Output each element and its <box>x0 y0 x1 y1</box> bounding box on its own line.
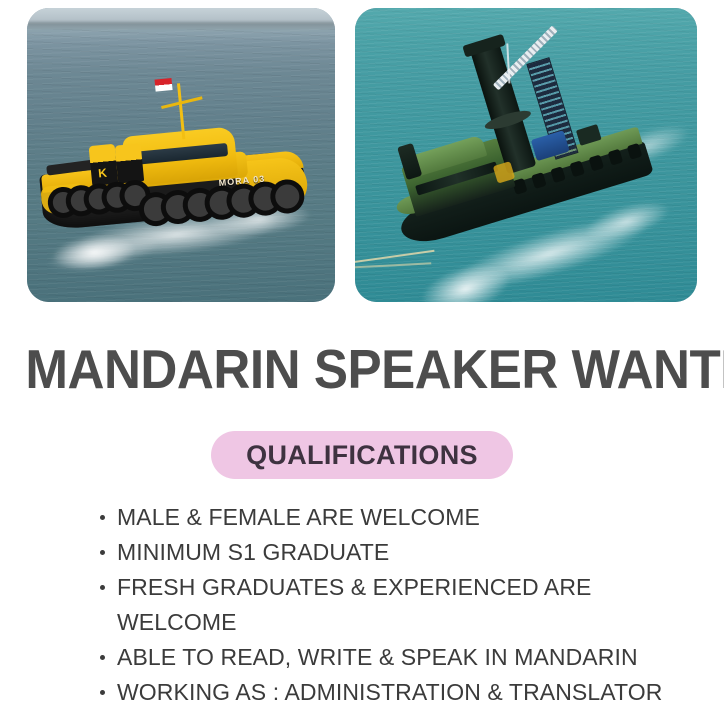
qualifications-list: MALE & FEMALE ARE WELCOME MINIMUM S1 GRA… <box>96 500 704 710</box>
qualifications-badge-wrap: QUALIFICATIONS <box>0 431 724 479</box>
list-item: MINIMUM S1 GRADUATE <box>96 535 704 570</box>
horizon-land <box>27 22 335 30</box>
barge-fender <box>627 143 643 160</box>
photo-row: K <box>0 0 724 312</box>
tugboat-funnel-port: K <box>89 144 119 186</box>
list-item: MALE & FEMALE ARE WELCOME <box>96 500 704 535</box>
indonesia-flag-icon <box>155 78 173 92</box>
list-item: WORKING AS : ADMINISTRATION & TRANSLATOR <box>96 675 704 710</box>
list-item: FRESH GRADUATES & EXPERIENCED ARE WELCOM… <box>96 570 704 640</box>
barge-fender <box>569 160 585 177</box>
barge-fender <box>550 166 566 183</box>
list-item: ABLE TO READ, WRITE & SPEAK IN MANDARIN <box>96 640 704 675</box>
crane-barge-photo-inner <box>355 8 697 302</box>
tugboat-photo-inner: K <box>27 8 335 302</box>
crane-barge-photo <box>355 8 697 302</box>
barge-fender <box>608 149 624 166</box>
qualifications-badge: QUALIFICATIONS <box>211 431 513 479</box>
tugboat-funnel-starboard <box>115 143 145 183</box>
barge-fender <box>589 155 605 172</box>
barge-fender <box>531 172 547 189</box>
tugboat-photo: K <box>27 8 335 302</box>
page-title: MANDARIN SPEAKER WANTED <box>25 340 698 398</box>
job-poster: K <box>0 0 724 724</box>
funnel-k-mark: K <box>98 167 108 180</box>
